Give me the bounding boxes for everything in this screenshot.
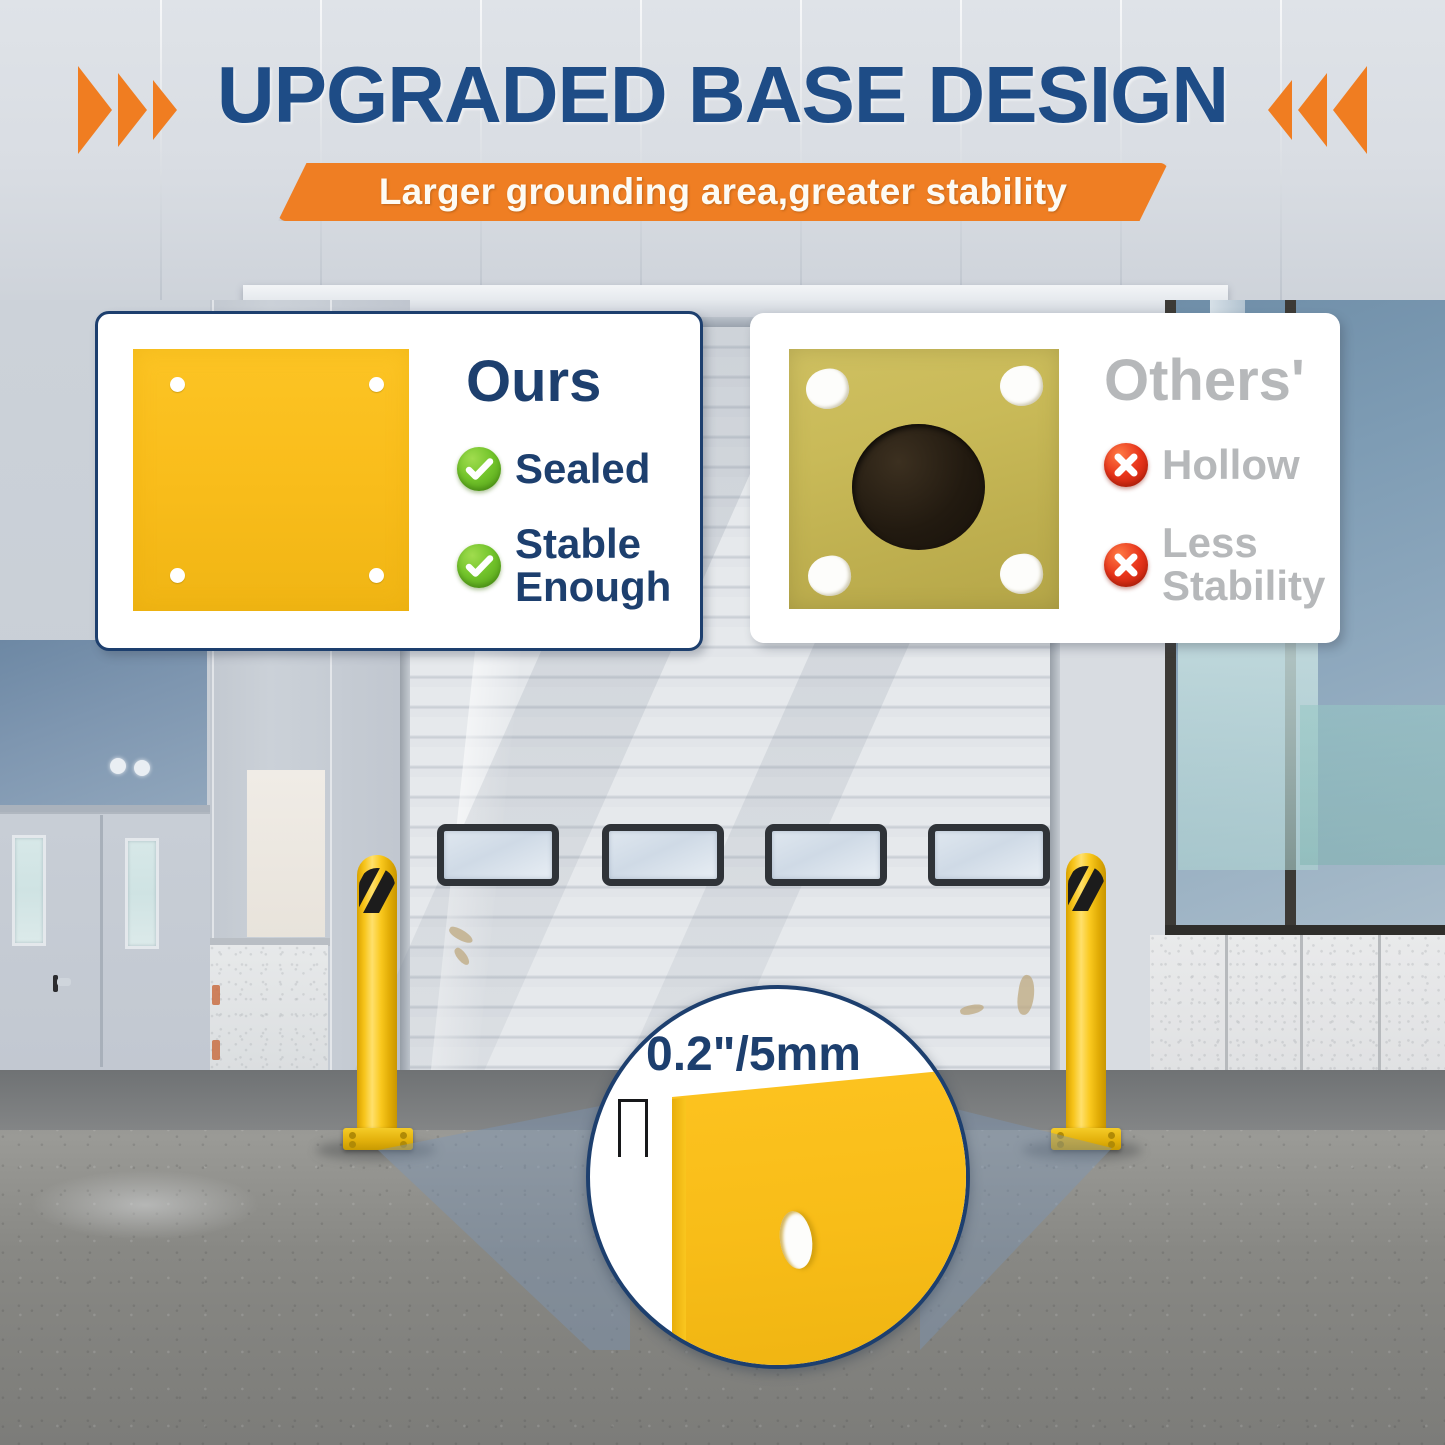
x-circle-icon: [1104, 543, 1148, 587]
hazard-stripe-icon: [1068, 866, 1104, 911]
door-glass-panel: [125, 838, 159, 949]
others-feature-2-label: Less Stability: [1162, 522, 1325, 608]
rust-mark: [212, 985, 220, 1005]
base-bolt-hole: [1057, 1141, 1064, 1148]
ours-feature-2: Stable Enough: [457, 523, 671, 609]
glass-reflection: [1300, 705, 1445, 865]
check-circle-icon: [457, 447, 501, 491]
bolt-hole: [369, 377, 384, 392]
base-bolt-hole: [400, 1141, 407, 1148]
hazard-stripe-icon: [359, 868, 395, 913]
others-feature-2: Less Stability: [1104, 522, 1325, 608]
ours-feature-2-label: Stable Enough: [515, 523, 671, 609]
others-feature-1: Hollow: [1104, 443, 1300, 487]
wall-seam: [320, 0, 322, 300]
door-split-line: [100, 815, 103, 1067]
caliper-thickness-icon: [618, 1099, 654, 1157]
thickness-label: 0.2"/5mm: [646, 1027, 861, 1082]
ours-heading: Ours: [466, 353, 601, 411]
window-sill: [0, 805, 210, 812]
ours-feature-1: Sealed: [457, 447, 650, 491]
page-title: UPGRADED BASE DESIGN: [0, 55, 1445, 135]
plate-edge-highlight: [672, 1098, 686, 1369]
base-bolt-hole: [400, 1132, 407, 1139]
wall-seam: [1120, 0, 1122, 300]
left-upper-window: [0, 640, 207, 810]
product-infographic: UPGRADED BASE DESIGN Larger grounding ar…: [0, 0, 1445, 1445]
wall-placard: [247, 770, 325, 937]
bolt-hole: [369, 568, 384, 583]
ours-feature-1-label: Sealed: [515, 448, 650, 491]
bolt-hole: [170, 568, 185, 583]
others-heading: Others': [1104, 352, 1305, 410]
door-glass-panel: [12, 835, 46, 946]
rollup-door-window: [602, 824, 724, 886]
rollup-door-window: [928, 824, 1050, 886]
check-circle-icon: [457, 544, 501, 588]
wall-seam: [800, 0, 802, 300]
hollow-center-hole: [852, 424, 985, 550]
subtitle-text: Larger grounding area,greater stability: [278, 163, 1168, 221]
thickness-magnifier-callout: 0.2"/5mm: [586, 985, 970, 1369]
wall-seam: [640, 0, 642, 300]
x-circle-icon: [1104, 443, 1148, 487]
bolt-hole: [170, 377, 185, 392]
base-bolt-hole: [349, 1132, 356, 1139]
wall-seam: [480, 0, 482, 300]
base-bolt-hole: [349, 1141, 356, 1148]
base-bolt-hole: [1057, 1132, 1064, 1139]
pillar-base-texture: [210, 945, 328, 1070]
door-handle-plate[interactable]: [57, 978, 71, 986]
glass-wall-sill: [1165, 925, 1445, 935]
rollup-door-window: [765, 824, 887, 886]
ground-stain: [30, 1170, 260, 1240]
wall-seam: [960, 0, 962, 300]
rollup-door-window: [437, 824, 559, 886]
upper-facade-wall: [0, 0, 1445, 300]
lamp-icon: [134, 760, 150, 776]
plate-edge-closeup: [672, 1065, 970, 1369]
base-bolt-hole: [1108, 1141, 1115, 1148]
others-feature-1-label: Hollow: [1162, 444, 1300, 487]
glass-reflection: [1178, 610, 1318, 870]
lamp-icon: [110, 758, 126, 774]
rust-mark: [212, 1040, 220, 1060]
base-bolt-hole: [1108, 1132, 1115, 1139]
